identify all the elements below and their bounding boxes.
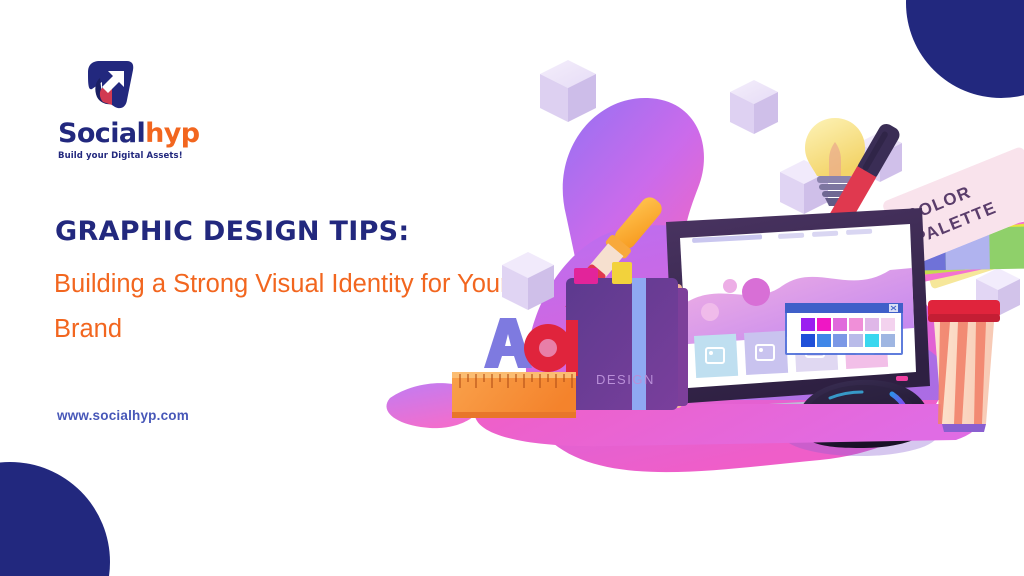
ruler xyxy=(452,372,576,418)
notebook-label: DESIGN xyxy=(596,372,655,387)
website-url[interactable]: www.socialhyp.com xyxy=(57,408,189,423)
logo-wordmark-social: Social xyxy=(58,118,145,149)
design-notebook: DESIGN xyxy=(566,278,688,410)
page-title: GRAPHIC DESIGN TIPS: xyxy=(55,216,410,247)
brand-logo[interactable]: Socialhyp Build your Digital Assets! xyxy=(58,58,258,161)
logo-wordmark-hyp: hyp xyxy=(145,118,199,149)
graphic-design-workspace-illustration: COLOR PALETTE xyxy=(380,0,1024,576)
logo-wordmark: Socialhyp xyxy=(58,120,258,147)
popup-close-icon[interactable] xyxy=(889,304,898,312)
decor-circle-bottom-left xyxy=(0,462,110,576)
logo-tagline: Build your Digital Assets! xyxy=(58,151,258,161)
socialhyp-arrow-logo-icon xyxy=(78,58,136,116)
color-picker-popup[interactable] xyxy=(785,303,903,355)
poster-canvas: Socialhyp Build your Digital Assets! GRA… xyxy=(0,0,1024,576)
coffee-cup xyxy=(928,300,1000,432)
